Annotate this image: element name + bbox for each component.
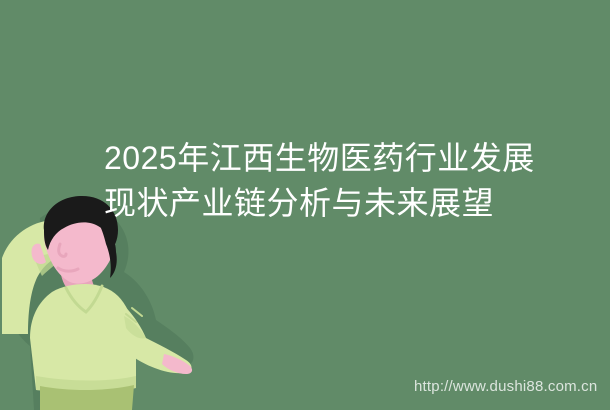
page-title: 2025年江西生物医药行业发展 现状产业链分析与未来展望 [104,136,504,226]
poster-canvas: 2025年江西生物医药行业发展 现状产业链分析与未来展望 http://www.… [0,0,610,410]
title-line-1: 2025年江西生物医药行业发展 [104,136,504,181]
watermark-url: http://www.dushi88.com.cn [414,378,597,395]
title-line-2: 现状产业链分析与未来展望 [104,181,504,226]
person-hand-behind-head-illustration [0,196,210,410]
